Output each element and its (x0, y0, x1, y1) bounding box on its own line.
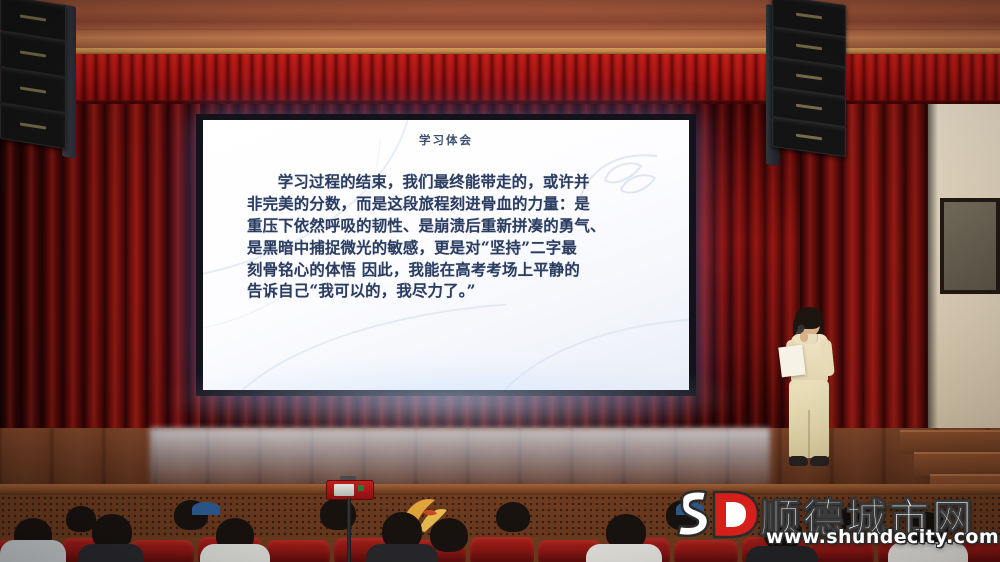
slide-body-line: 告诉自己“我可以的，我尽力了。” (247, 281, 647, 303)
audience-head (496, 502, 530, 532)
slide-body-line: 是黑暗中捕捉微光的敏感，更是对“坚持”二字最 (247, 238, 647, 260)
speaker-badge (796, 74, 822, 81)
slide-body-text: 学习过程的结束，我们最终能带走的，或许并非完美的分数，而是这段旅程刻进骨血的力量… (247, 172, 647, 303)
presenter-script-paper (778, 345, 805, 378)
projection-screen: 学习体会 学习过程的结束，我们最终能带走的，或许并非完美的分数，而是这段旅程刻进… (203, 120, 689, 390)
auditorium-photo: 学习体会 学习过程的结束，我们最终能带走的，或许并非完美的分数，而是这段旅程刻进… (0, 0, 1000, 562)
speaker-badge (796, 13, 822, 20)
speaker-badge (796, 44, 822, 51)
watermark-url: www.shundecity.com (766, 526, 999, 548)
camera-screen (334, 484, 354, 496)
stage-screen-reflection (150, 428, 770, 488)
line-array-speaker-left (0, 0, 78, 150)
presenter-shoe-right (810, 456, 829, 466)
recording-camera-on-tripod (326, 480, 372, 562)
stage-step (914, 452, 1000, 476)
speaker-badge (796, 134, 822, 141)
slide-title: 学习体会 (203, 132, 689, 148)
audience-head (430, 518, 468, 552)
audience-shoulders (0, 540, 66, 562)
speaker-badge (20, 14, 46, 21)
audience-shoulders (366, 544, 438, 562)
site-watermark: 顺德城市网 www.shundecity.com (672, 486, 996, 552)
stage-step (900, 430, 1000, 454)
presenter-shoe-left (789, 456, 808, 466)
wall-framed-panel (940, 198, 1000, 294)
slide-body-line: 非完美的分数，而是这段旅程刻进骨血的力量：是 (247, 194, 647, 216)
presenter-hand (800, 332, 808, 342)
speaker-badge (20, 86, 46, 93)
presenter-arm-right (820, 340, 835, 377)
slide-body-line: 学习过程的结束，我们最终能带走的，或许并 (247, 172, 647, 194)
audience-shoulders (78, 544, 144, 562)
tripod-pole (347, 498, 351, 562)
speaker-badge (20, 122, 46, 129)
audience-shoulders (200, 544, 270, 562)
line-array-speaker-right (772, 0, 858, 160)
audience-seat (470, 537, 534, 562)
speaker-badge (796, 104, 822, 111)
audience-seat (266, 540, 330, 562)
sd-logo-icon (674, 488, 760, 540)
speaker-badge (20, 50, 46, 57)
audience-cap (192, 502, 220, 515)
audience-shoulders (586, 544, 662, 562)
slide-body-line: 重压下依然呼吸的韧性、是崩溃后重新拼凑的勇气、 (247, 216, 647, 238)
camera-body (326, 480, 374, 500)
camera-record-button (358, 485, 364, 491)
presenter-trousers (789, 380, 829, 458)
presenter-figure (778, 310, 840, 482)
slide-body-line: 刻骨铭心的体悟 因此，我能在高考考场上平静的 (247, 260, 647, 282)
